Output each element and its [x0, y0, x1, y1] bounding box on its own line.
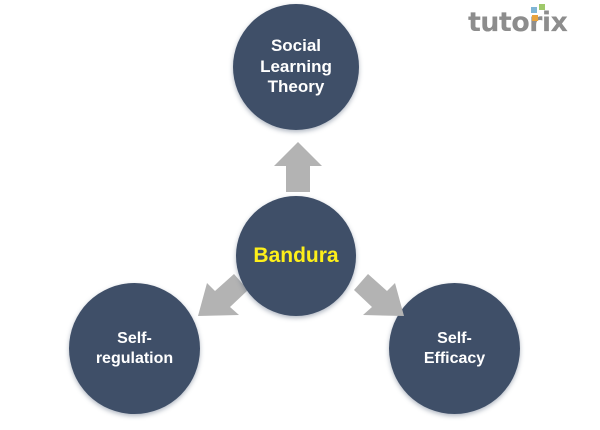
node-self-regulation[interactable]: Self- regulation	[69, 283, 200, 414]
node-label-bandura: Bandura	[253, 243, 338, 269]
node-social-learning-theory[interactable]: Social Learning Theory	[233, 4, 359, 130]
arrow-up-icon	[272, 140, 324, 194]
node-label-social-learning-theory: Social Learning Theory	[260, 36, 332, 98]
logo-square-orange-icon	[532, 15, 538, 21]
node-bandura[interactable]: Bandura	[236, 196, 356, 316]
node-self-efficacy[interactable]: Self- Efficacy	[389, 283, 520, 414]
diagram-canvas: tutorix Social Learning Theory Bandura S…	[0, 0, 600, 430]
node-label-self-regulation: Self- regulation	[96, 329, 173, 368]
tutorix-logo: tutorix	[468, 6, 588, 42]
node-label-self-efficacy: Self- Efficacy	[424, 329, 485, 368]
logo-wordmark: tutorix	[468, 8, 567, 38]
logo-square-green-icon	[539, 4, 545, 10]
arrow-down-right-icon	[348, 270, 408, 330]
logo-square-blue-icon	[531, 7, 537, 13]
